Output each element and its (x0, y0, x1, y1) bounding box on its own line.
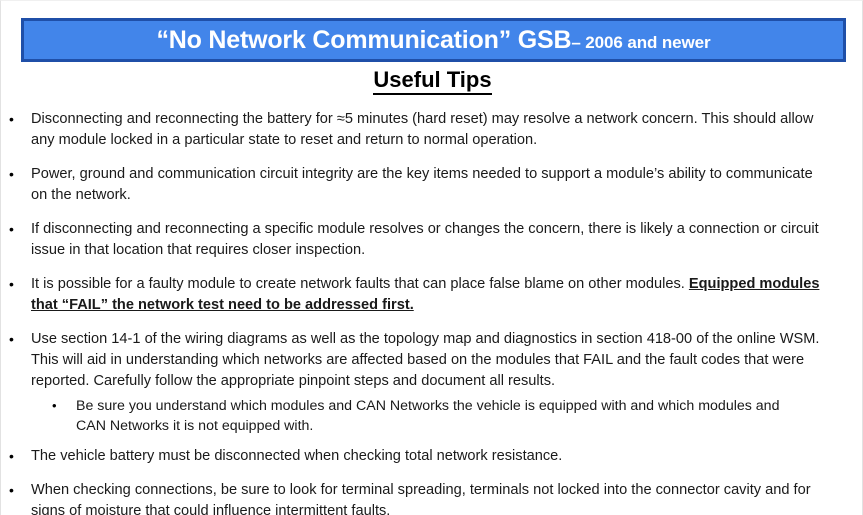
sub-list-item: • Be sure you understand which modules a… (1, 396, 842, 436)
list-item-text: Power, ground and communication circuit … (31, 164, 824, 206)
list-item-text: If disconnecting and reconnecting a spec… (31, 219, 824, 261)
sub-bullet-dot-icon: • (52, 396, 76, 416)
sub-list-item-text: Be sure you understand which modules and… (76, 396, 802, 436)
bullet-dot-icon: • (9, 329, 31, 349)
tips-list: • Disconnecting and reconnecting the bat… (1, 109, 863, 515)
list-item-text: It is possible for a faulty module to cr… (31, 274, 824, 316)
bullet-dot-icon: • (9, 109, 31, 129)
list-item-text-plain: It is possible for a faulty module to cr… (31, 276, 689, 292)
bullet-dot-icon: • (9, 446, 31, 466)
list-item: • When checking connections, be sure to … (1, 480, 842, 515)
list-item-text: Use section 14-1 of the wiring diagrams … (31, 329, 824, 392)
title-banner: “No Network Communication” GSB– 2006 and… (21, 18, 846, 62)
bullet-dot-icon: • (9, 219, 31, 239)
list-item: • Power, ground and communication circui… (1, 164, 842, 206)
list-item: • Disconnecting and reconnecting the bat… (1, 109, 842, 151)
section-heading-label: Useful Tips (373, 67, 491, 95)
banner-subtitle: – 2006 and newer (571, 33, 710, 52)
list-item-text: When checking connections, be sure to lo… (31, 480, 824, 515)
slide-canvas: “No Network Communication” GSB– 2006 and… (0, 0, 863, 515)
list-item: • The vehicle battery must be disconnect… (1, 446, 842, 467)
banner-main-title: “No Network Communication” GSB (156, 26, 571, 54)
section-heading: Useful Tips (1, 68, 863, 92)
bullet-dot-icon: • (9, 274, 31, 294)
list-item-text: The vehicle battery must be disconnected… (31, 446, 824, 467)
list-item: • If disconnecting and reconnecting a sp… (1, 219, 842, 261)
list-item-text: Disconnecting and reconnecting the batte… (31, 109, 824, 151)
bullet-dot-icon: • (9, 480, 31, 500)
list-item: • Use section 14-1 of the wiring diagram… (1, 329, 842, 392)
bullet-dot-icon: • (9, 164, 31, 184)
list-item: • It is possible for a faulty module to … (1, 274, 842, 316)
banner-title-text: “No Network Communication” GSB– 2006 and… (156, 28, 710, 53)
